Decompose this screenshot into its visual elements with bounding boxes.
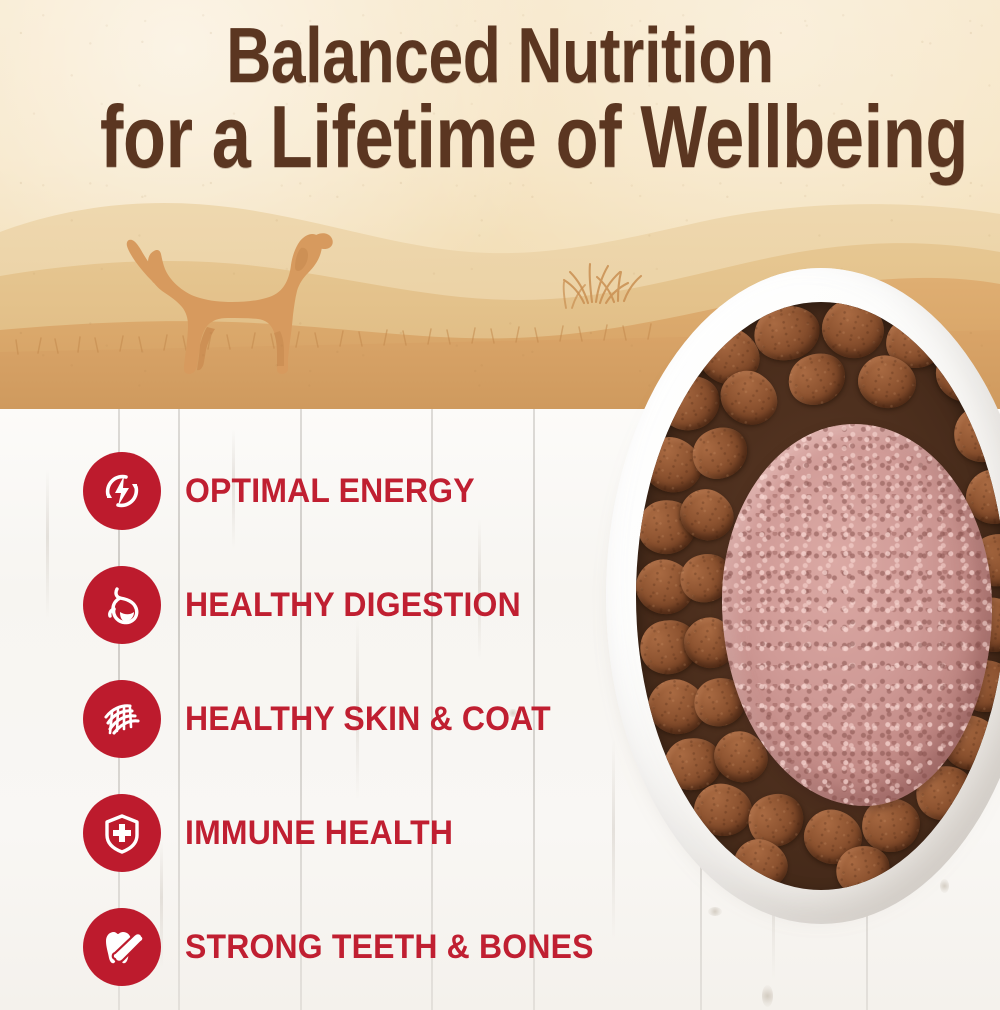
benefit-row-healthy-digestion[interactable]: HEALTHY DIGESTION: [83, 565, 542, 645]
benefit-row-optimal-energy[interactable]: OPTIMAL ENERGY: [83, 451, 493, 531]
benefit-row-strong-teeth-bones[interactable]: STRONG TEETH & BONES: [83, 907, 620, 987]
benefit-label: STRONG TEETH & BONES: [185, 928, 594, 967]
page-title: Balanced Nutrition for a Lifetime of Wel…: [0, 18, 1000, 179]
shield-cross-icon: [83, 794, 161, 872]
benefit-label: HEALTHY SKIN & COAT: [185, 700, 551, 739]
headline-line-2: for a Lifetime of Wellbeing: [100, 95, 900, 179]
benefit-row-healthy-skin-coat[interactable]: HEALTHY SKIN & COAT: [83, 679, 574, 759]
benefit-label: IMMUNE HEALTH: [185, 814, 453, 853]
fur-strands-icon: [83, 680, 161, 758]
benefit-label: OPTIMAL ENERGY: [185, 472, 475, 511]
tooth-bone-icon: [83, 908, 161, 986]
benefit-label: HEALTHY DIGESTION: [185, 586, 521, 625]
stomach-icon: [83, 566, 161, 644]
headline-line-1: Balanced Nutrition: [100, 18, 900, 93]
benefit-row-immune-health[interactable]: IMMUNE HEALTH: [83, 793, 470, 873]
energy-bolt-icon: [83, 452, 161, 530]
product-benefits-poster: Balanced Nutrition for a Lifetime of Wel…: [0, 0, 1000, 1010]
benefits-list: OPTIMAL ENERGY HEALTHY DIGESTION: [0, 409, 1000, 1010]
